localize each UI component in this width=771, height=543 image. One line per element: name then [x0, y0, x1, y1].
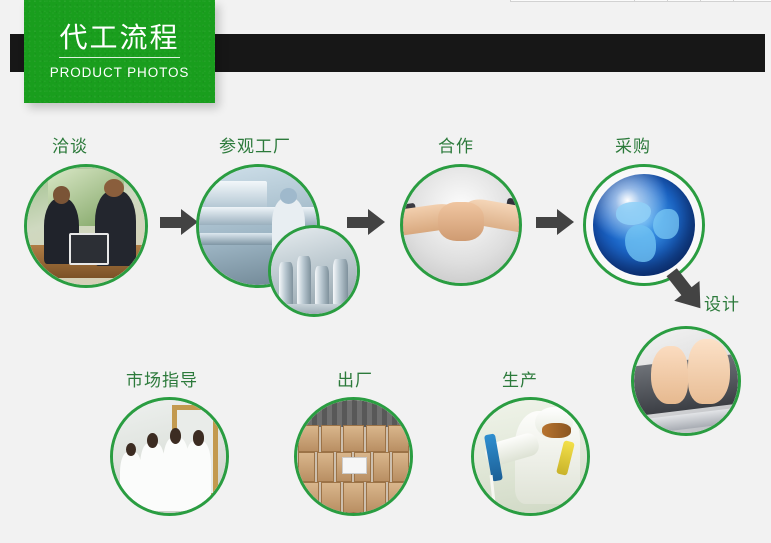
section-title-cn: 代工流程	[59, 23, 179, 59]
flow-node-procurement[interactable]: 采购	[565, 120, 745, 300]
tanks-photo[interactable]	[268, 225, 360, 317]
keyboard-photo-image	[634, 329, 738, 433]
flow-label-design: 设计	[704, 290, 740, 315]
flow-node-cooperation[interactable]: 合作	[380, 120, 560, 300]
handshake-photo[interactable]	[400, 164, 522, 286]
tanks-photo-image	[271, 228, 357, 314]
flow-label-factory-visit: 参观工厂	[219, 132, 291, 157]
flow-node-ex-factory[interactable]: 出厂	[280, 362, 460, 542]
flow-label-production: 生产	[502, 366, 538, 391]
table-remnant-cell	[734, 0, 771, 1]
boxes-photo-image	[297, 400, 410, 513]
flow-node-market-guidance[interactable]: 市场指导	[100, 362, 280, 542]
production-photo-image	[474, 400, 587, 513]
lab-coats-photo[interactable]	[110, 397, 229, 516]
handshake-photo-image	[403, 167, 519, 283]
flow-label-negotiation: 洽谈	[52, 132, 88, 157]
section-title-card: 代工流程 PRODUCT PHOTOS	[24, 0, 215, 103]
production-photo[interactable]	[471, 397, 590, 516]
flow-node-production[interactable]: 生产	[455, 362, 635, 542]
table-remnant-cell	[668, 0, 701, 1]
table-remnant-cell	[635, 0, 668, 1]
table-remnant-cell	[511, 0, 635, 1]
section-title-en: PRODUCT PHOTOS	[50, 65, 190, 80]
flow-label-market-guidance: 市场指导	[126, 366, 198, 391]
flow-node-negotiation[interactable]: 洽谈	[0, 120, 180, 300]
product-photos-flow-page: 代工流程 PRODUCT PHOTOS 洽谈 参观工厂	[0, 0, 771, 543]
table-remnant	[510, 0, 771, 2]
flow-label-procurement: 采购	[615, 132, 651, 157]
flow-node-factory-visit[interactable]: 参观工厂	[190, 120, 370, 320]
boxes-photo[interactable]	[294, 397, 413, 516]
table-remnant-cell	[701, 0, 734, 1]
meeting-photo-image	[27, 167, 145, 285]
flow-label-ex-factory: 出厂	[337, 366, 373, 391]
meeting-photo[interactable]	[24, 164, 148, 288]
lab-coats-photo-image	[113, 400, 226, 513]
flow-node-design[interactable]: 设计	[620, 288, 770, 438]
keyboard-photo[interactable]	[631, 326, 741, 436]
flow-label-cooperation: 合作	[438, 132, 474, 157]
